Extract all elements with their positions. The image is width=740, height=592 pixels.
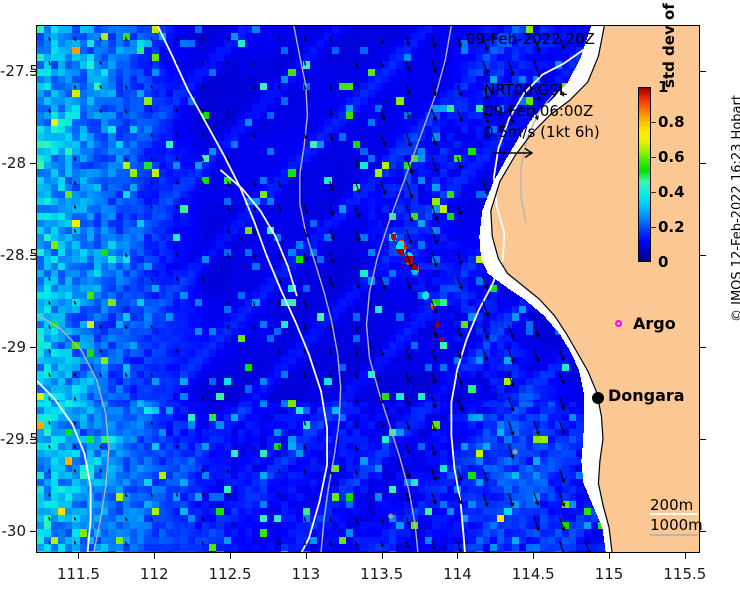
current-vector-arrow-icon xyxy=(509,325,514,338)
current-vector-arrow-icon xyxy=(228,253,230,258)
current-vector-arrow-icon xyxy=(279,469,281,473)
current-vector-arrow-icon xyxy=(228,229,230,233)
current-vector-arrow-icon xyxy=(560,349,565,361)
current-vector-arrow-icon xyxy=(228,157,230,161)
x-axis-tick xyxy=(685,553,686,559)
colorbar-tick-label: 0.6 xyxy=(658,148,685,166)
current-vector-arrow-icon xyxy=(177,61,178,64)
current-vector-arrow-icon xyxy=(125,541,126,545)
current-vector-arrow-icon xyxy=(151,157,152,160)
current-vector-arrow-icon xyxy=(279,541,281,545)
colorbar: 00.20.40.60.81 xyxy=(638,87,651,262)
current-vector-arrow-icon xyxy=(304,445,306,449)
current-vector-arrow-icon xyxy=(355,181,360,193)
current-vector-arrow-icon xyxy=(253,181,255,186)
current-vector-arrow-icon xyxy=(432,301,437,313)
current-vector-arrow-icon xyxy=(49,277,50,280)
current-vector-arrow-icon xyxy=(330,277,334,286)
current-vector-arrow-icon xyxy=(253,253,255,258)
current-vector-arrow-icon xyxy=(355,157,359,167)
current-vector-arrow-icon xyxy=(304,517,306,521)
current-vector-arrow-icon xyxy=(49,349,50,353)
current-vector-arrow-icon xyxy=(406,85,410,95)
current-vector-arrow-icon xyxy=(49,469,50,472)
current-vector-arrow-icon xyxy=(253,61,255,65)
current-vector-arrow-icon xyxy=(457,157,462,169)
current-vector-arrow-icon xyxy=(74,373,75,376)
bathymetry-contour-1000m xyxy=(294,25,341,553)
current-vector-arrow-icon xyxy=(457,541,461,552)
current-vector-arrow-icon xyxy=(406,349,410,359)
current-vector-arrow-icon xyxy=(151,181,152,184)
source-line-time: 09-Feb 06:00Z xyxy=(484,101,600,122)
current-vector-arrow-icon xyxy=(406,517,409,525)
bathymetry-contour-1000m xyxy=(367,25,452,553)
current-vector-arrow-icon xyxy=(330,517,332,521)
current-vector-arrow-icon xyxy=(560,517,565,530)
current-vector-arrow-icon xyxy=(202,493,204,497)
current-vector-arrow-icon xyxy=(457,37,461,47)
y-axis-tick-right xyxy=(700,163,706,164)
current-vector-arrow-icon xyxy=(381,517,383,523)
current-vector-arrow-icon xyxy=(355,397,357,402)
colorbar-tick xyxy=(651,227,656,228)
current-vector-arrow-icon xyxy=(406,229,412,244)
current-vector-arrow-icon xyxy=(483,469,488,482)
current-vector-arrow-icon xyxy=(177,277,178,281)
current-vector-arrow-icon xyxy=(355,421,357,427)
current-vector-arrow-icon xyxy=(228,205,230,209)
current-vector-arrow-icon xyxy=(228,61,230,65)
x-axis-tick-label: 112 xyxy=(140,565,169,583)
current-vector-arrow-icon xyxy=(74,541,75,544)
current-vector-arrow-icon xyxy=(49,37,50,40)
current-vector-arrow-icon xyxy=(304,349,306,353)
current-vector-arrow-icon xyxy=(432,349,437,360)
current-vector-arrow-icon xyxy=(253,133,255,137)
current-vector-arrow-icon xyxy=(228,109,230,113)
current-vector-arrow-icon xyxy=(74,469,75,472)
current-vector-arrow-icon xyxy=(355,205,360,217)
current-vector-arrow-icon xyxy=(355,373,357,379)
current-vector-arrow-icon xyxy=(253,445,255,449)
current-vector-arrow-icon xyxy=(457,397,462,410)
current-vector-arrow-icon xyxy=(151,493,152,496)
current-vector-arrow-icon xyxy=(406,133,411,146)
map-overlay xyxy=(36,25,700,553)
current-vector-arrow-icon xyxy=(253,325,255,329)
current-vector-arrow-icon xyxy=(202,397,203,400)
current-vector-arrow-icon xyxy=(381,421,384,428)
current-vector-arrow-icon xyxy=(202,517,203,520)
current-vector-arrow-icon xyxy=(304,325,306,330)
current-vector-arrow-icon xyxy=(432,205,438,221)
current-vector-arrow-icon xyxy=(534,493,539,505)
current-vector-arrow-icon xyxy=(432,157,438,172)
current-vector-arrow-icon xyxy=(304,205,307,212)
current-vector-arrow-icon xyxy=(125,373,126,377)
current-vector-arrow-icon xyxy=(406,61,410,71)
current-vector-arrow-icon xyxy=(483,181,488,194)
current-vector-arrow-icon xyxy=(49,373,50,376)
y-axis-tick xyxy=(30,347,36,348)
y-axis-tick-right xyxy=(700,71,706,72)
mooring-marker-icon xyxy=(512,449,517,454)
current-vector-arrow-icon xyxy=(560,493,565,506)
current-vector-arrow-icon xyxy=(202,109,204,113)
current-vector-arrow-icon xyxy=(330,205,334,216)
current-vector-arrow-icon xyxy=(100,37,101,40)
current-vector-arrow-icon xyxy=(100,61,101,64)
current-vector-arrow-icon xyxy=(381,541,383,546)
current-vector-arrow-icon xyxy=(202,469,204,473)
x-axis-tick-label: 113.5 xyxy=(360,565,403,583)
current-vector-arrow-icon xyxy=(177,493,178,496)
colorbar-tick-label: 0.2 xyxy=(658,218,685,236)
current-vector-arrow-icon xyxy=(151,517,152,520)
current-vector-arrow-icon xyxy=(432,325,437,337)
x-axis-tick xyxy=(533,553,534,559)
current-vector-arrow-icon xyxy=(279,301,281,306)
y-axis-tick-right xyxy=(700,255,706,256)
mooring-marker-icon xyxy=(388,514,393,519)
source-line-product: NRT00 GSL xyxy=(484,80,600,101)
current-vector-arrow-icon xyxy=(355,229,360,241)
current-vector-arrow-icon xyxy=(202,541,203,545)
current-vector-arrow-icon xyxy=(457,277,462,289)
current-vector-arrow-icon xyxy=(74,301,75,304)
current-vector-arrow-icon xyxy=(151,85,152,88)
current-vector-arrow-icon xyxy=(74,157,75,161)
current-vector-arrow-icon xyxy=(151,373,153,376)
argo-legend-label: Argo xyxy=(633,314,676,333)
bathy-label-1000m: 1000m xyxy=(650,515,703,535)
current-vector-arrow-icon xyxy=(483,61,488,74)
current-vector-arrow-icon xyxy=(49,493,50,496)
current-vector-arrow-icon xyxy=(381,277,386,289)
current-vector-arrow-icon xyxy=(560,373,564,384)
current-vector-arrow-icon xyxy=(560,469,565,482)
dongara-marker-icon xyxy=(592,392,604,404)
current-vector-arrow-icon xyxy=(355,325,358,332)
current-vector-arrow-icon xyxy=(202,85,203,89)
current-vector-arrow-icon xyxy=(355,469,357,474)
current-vector-arrow-icon xyxy=(432,493,437,504)
current-vector-arrow-icon xyxy=(151,421,152,424)
current-vector-arrow-icon xyxy=(355,61,357,66)
current-vector-arrow-icon xyxy=(406,205,412,221)
current-vector-arrow-icon xyxy=(49,517,50,520)
current-vector-arrow-icon xyxy=(381,61,383,67)
current-vector-arrow-icon xyxy=(330,541,332,545)
y-axis-tick-label: -28 xyxy=(0,154,26,172)
current-vector-arrow-icon xyxy=(330,349,332,354)
current-vector-arrow-icon xyxy=(177,349,178,352)
current-vector-arrow-icon xyxy=(330,373,332,378)
current-vector-arrow-icon xyxy=(74,517,75,520)
current-vector-arrow-icon xyxy=(330,85,332,90)
current-vector-arrow-icon xyxy=(74,397,75,400)
current-vector-arrow-icon xyxy=(406,253,412,267)
current-vector-arrow-icon xyxy=(304,37,306,41)
bathymetry-key: 200m 1000m xyxy=(650,495,703,535)
current-vector-arrow-icon xyxy=(49,325,50,328)
colorbar-title: std dev of 4hr SST comp xyxy=(660,0,678,88)
current-vector-arrow-icon xyxy=(432,61,437,72)
colorbar-tick xyxy=(651,157,656,158)
current-vector-arrow-icon xyxy=(483,277,488,288)
current-vector-arrow-icon xyxy=(432,133,437,145)
current-vector-arrow-icon xyxy=(432,229,438,244)
current-vector-arrow-icon xyxy=(177,205,178,209)
current-vector-arrow-icon xyxy=(125,157,126,160)
current-vector-arrow-icon xyxy=(49,109,50,113)
current-vector-arrow-icon xyxy=(509,373,514,386)
colorbar-tick-label: 0 xyxy=(658,253,668,271)
current-vector-arrow-icon xyxy=(509,493,514,506)
x-axis-tick xyxy=(306,553,307,559)
current-vector-arrow-icon xyxy=(304,541,306,545)
current-vector-arrow-icon xyxy=(202,61,203,65)
current-vector-arrow-icon xyxy=(330,37,332,41)
colorbar-gradient xyxy=(638,87,651,262)
current-vector-arrow-icon xyxy=(304,469,306,473)
current-vector-arrow-icon xyxy=(560,421,565,434)
current-vector-arrow-icon xyxy=(432,445,436,455)
current-vector-arrow-icon xyxy=(406,397,409,405)
current-vector-arrow-icon xyxy=(49,541,50,544)
colorbar-tick xyxy=(651,192,656,193)
current-vector-arrow-icon xyxy=(534,61,540,77)
current-vector-arrow-icon xyxy=(74,181,75,184)
current-vector-arrow-icon xyxy=(100,469,101,472)
colorbar-tick-label: 0.4 xyxy=(658,183,685,201)
current-vector-arrow-icon xyxy=(228,37,229,40)
current-vector-arrow-icon xyxy=(560,397,565,410)
current-vector-arrow-icon xyxy=(355,445,357,451)
current-vector-arrow-icon xyxy=(74,85,75,88)
source-annotation: NRT00 GSL 09-Feb 06:00Z 0.5m/s (1kt 6h) xyxy=(484,80,600,169)
current-vector-arrow-icon xyxy=(534,421,539,434)
y-axis-tick-label: -29.5 xyxy=(0,430,26,448)
current-vector-arrow-icon xyxy=(457,85,461,96)
y-axis-tick-label: -30 xyxy=(0,522,26,540)
current-vector-arrow-icon xyxy=(177,253,178,257)
x-axis-tick xyxy=(154,553,155,559)
current-vector-arrow-icon xyxy=(100,445,101,448)
bathy-label-200m: 200m xyxy=(650,495,703,515)
current-vector-arrow-icon xyxy=(202,157,204,161)
current-vector-arrow-icon xyxy=(509,349,514,363)
current-vector-arrow-icon xyxy=(125,325,126,328)
current-vector-arrow-icon xyxy=(151,37,153,41)
current-vector-arrow-icon xyxy=(100,325,101,328)
current-vector-arrow-icon xyxy=(432,253,437,266)
current-vector-arrow-icon xyxy=(74,37,75,40)
current-vector-arrow-icon xyxy=(253,301,255,305)
y-axis-tick xyxy=(30,163,36,164)
current-vector-arrow-icon xyxy=(151,277,153,280)
current-vector-arrow-icon xyxy=(432,109,437,120)
current-vector-arrow-icon xyxy=(560,541,566,553)
y-axis-tick-right xyxy=(700,531,706,532)
current-vector-arrow-icon xyxy=(432,541,436,549)
current-vector-arrow-icon xyxy=(483,493,488,506)
current-vector-arrow-icon xyxy=(406,277,411,289)
current-vector-arrow-icon xyxy=(432,469,437,480)
current-vector-arrow-icon xyxy=(406,181,413,198)
current-vector-arrow-icon xyxy=(483,301,489,316)
x-axis-tick-label: 112.5 xyxy=(209,565,252,583)
current-vector-arrow-icon xyxy=(457,205,461,215)
current-vector-arrow-icon xyxy=(151,325,152,328)
current-vector-arrow-icon xyxy=(125,493,126,496)
current-vector-arrow-icon xyxy=(151,109,152,112)
bathymetry-contour-200m xyxy=(36,380,91,553)
y-axis-tick-label: -29 xyxy=(0,338,26,356)
source-line-scale: 0.5m/s (1kt 6h) xyxy=(484,122,600,143)
argo-marker-icon xyxy=(615,320,622,327)
x-axis-tick xyxy=(609,553,610,559)
current-vector-arrow-icon xyxy=(202,133,204,137)
current-vector-arrow-icon xyxy=(304,253,307,261)
current-vector-arrow-icon xyxy=(125,253,126,257)
velocity-scale-arrow-icon xyxy=(484,143,544,163)
current-vector-arrow-icon xyxy=(202,277,204,281)
current-vector-arrow-icon xyxy=(177,133,178,136)
current-vector-arrow-icon xyxy=(151,205,152,208)
x-axis-tick xyxy=(457,553,458,559)
current-vector-arrow-icon xyxy=(381,133,386,146)
current-vector-arrow-icon xyxy=(202,181,204,185)
current-vector-arrow-icon xyxy=(457,325,462,337)
current-vector-arrow-icon xyxy=(253,205,255,210)
current-vector-arrow-icon xyxy=(483,349,488,360)
y-axis-tick-right xyxy=(700,347,706,348)
current-vector-arrow-icon xyxy=(457,373,462,385)
current-vector-arrow-icon xyxy=(279,349,281,353)
current-vector-arrow-icon xyxy=(534,517,539,530)
current-vector-arrow-icon xyxy=(100,85,101,88)
current-vector-arrow-icon xyxy=(228,181,230,185)
x-axis-tick-label: 115.5 xyxy=(663,565,706,583)
current-vector-arrow-icon xyxy=(406,445,410,454)
current-vector-arrow-icon xyxy=(330,109,333,115)
current-vector-arrow-icon xyxy=(279,85,281,89)
current-vector-arrow-icon xyxy=(457,253,462,264)
copyright-credit: © IMOS 12-Feb-2022 16:23 Hobart xyxy=(730,95,740,322)
current-vector-arrow-icon xyxy=(151,61,152,64)
current-vector-arrow-icon xyxy=(381,109,385,120)
current-vector-arrow-icon xyxy=(509,421,514,435)
current-vector-arrow-icon xyxy=(279,181,281,187)
current-vector-arrow-icon xyxy=(125,85,126,89)
current-vector-arrow-icon xyxy=(279,253,281,259)
x-axis-tick-label: 115 xyxy=(595,565,624,583)
x-axis-tick xyxy=(230,553,231,559)
current-vector-arrow-icon xyxy=(125,517,126,520)
current-vector-arrow-icon xyxy=(330,133,333,140)
x-axis-tick-label: 113 xyxy=(292,565,321,583)
current-vector-arrow-icon xyxy=(406,109,410,119)
y-axis-tick-label: -27.5 xyxy=(0,62,26,80)
current-vector-arrow-icon xyxy=(279,37,281,41)
current-vector-arrow-icon xyxy=(125,109,126,113)
current-vector-arrow-icon xyxy=(74,205,75,208)
colorbar-tick-label: 0.8 xyxy=(658,113,685,131)
current-vector-arrow-icon xyxy=(432,37,436,47)
current-vector-arrow-icon xyxy=(74,421,75,424)
current-vector-arrow-icon xyxy=(406,373,409,381)
current-vector-arrow-icon xyxy=(432,373,436,384)
current-vector-arrow-icon xyxy=(228,301,230,305)
current-vector-arrow-icon xyxy=(330,325,332,331)
current-vector-arrow-icon xyxy=(534,349,539,361)
current-vector-arrow-icon xyxy=(202,37,204,41)
x-axis-tick-label: 114.5 xyxy=(512,565,555,583)
current-vector-arrow-icon xyxy=(253,85,255,89)
bathy-swatch-1000m xyxy=(650,534,698,536)
current-vector-arrow-icon xyxy=(253,229,255,234)
current-vector-arrow-icon xyxy=(483,325,488,339)
colorbar-tick xyxy=(651,122,656,123)
current-vector-arrow-icon xyxy=(355,277,360,289)
current-vector-arrow-icon xyxy=(49,301,50,304)
current-vector-arrow-icon xyxy=(74,445,75,448)
current-vector-arrow-icon xyxy=(304,61,306,65)
bathymetry-contour-1000m xyxy=(36,314,109,553)
current-vector-arrow-icon xyxy=(177,181,178,184)
y-axis-tick-right xyxy=(700,439,706,440)
dongara-place-label: Dongara xyxy=(608,386,685,405)
y-axis-tick xyxy=(30,531,36,532)
current-vector-arrow-icon xyxy=(406,37,409,45)
current-vector-arrow-icon xyxy=(330,181,334,191)
current-vector-arrow-icon xyxy=(49,421,50,424)
current-vector-arrow-icon xyxy=(228,325,230,329)
current-vector-arrow-icon xyxy=(330,253,334,263)
current-vector-arrow-icon xyxy=(355,541,357,546)
current-vector-arrow-icon xyxy=(228,493,230,497)
current-vector-arrow-icon xyxy=(49,397,50,400)
current-vector-arrow-icon xyxy=(74,229,75,232)
current-vector-arrow-icon xyxy=(100,109,102,112)
bathymetry-contour-200m xyxy=(157,25,327,553)
y-axis-tick-label: -28.5 xyxy=(0,246,26,264)
current-vector-arrow-icon xyxy=(304,373,306,377)
bathy-swatch-200m xyxy=(650,513,698,515)
current-vector-arrow-icon xyxy=(177,445,178,448)
map-plot-area[interactable] xyxy=(36,25,700,553)
current-vector-arrow-icon xyxy=(457,469,462,481)
current-vector-arrow-icon xyxy=(100,373,101,376)
composite-timestamp: 09-Feb-2022 20Z xyxy=(466,30,595,48)
figure-root: 09-Feb-2022 20Z NRT00 GSL 09-Feb 06:00Z … xyxy=(0,0,740,592)
current-vector-arrow-icon xyxy=(100,349,101,352)
current-vector-arrow-icon xyxy=(406,421,410,430)
current-vector-arrow-icon xyxy=(279,493,281,497)
current-vector-arrow-icon xyxy=(381,181,386,194)
x-axis-tick xyxy=(78,553,79,559)
current-vector-arrow-icon xyxy=(279,205,282,211)
current-vector-arrow-icon xyxy=(432,397,436,408)
current-vector-arrow-icon xyxy=(432,421,436,431)
current-vector-arrow-icon xyxy=(457,349,461,358)
current-vector-arrow-icon xyxy=(406,541,409,548)
current-vector-arrow-icon xyxy=(381,37,384,43)
current-vector-arrow-icon xyxy=(49,61,50,65)
current-vector-arrow-icon xyxy=(177,109,178,112)
